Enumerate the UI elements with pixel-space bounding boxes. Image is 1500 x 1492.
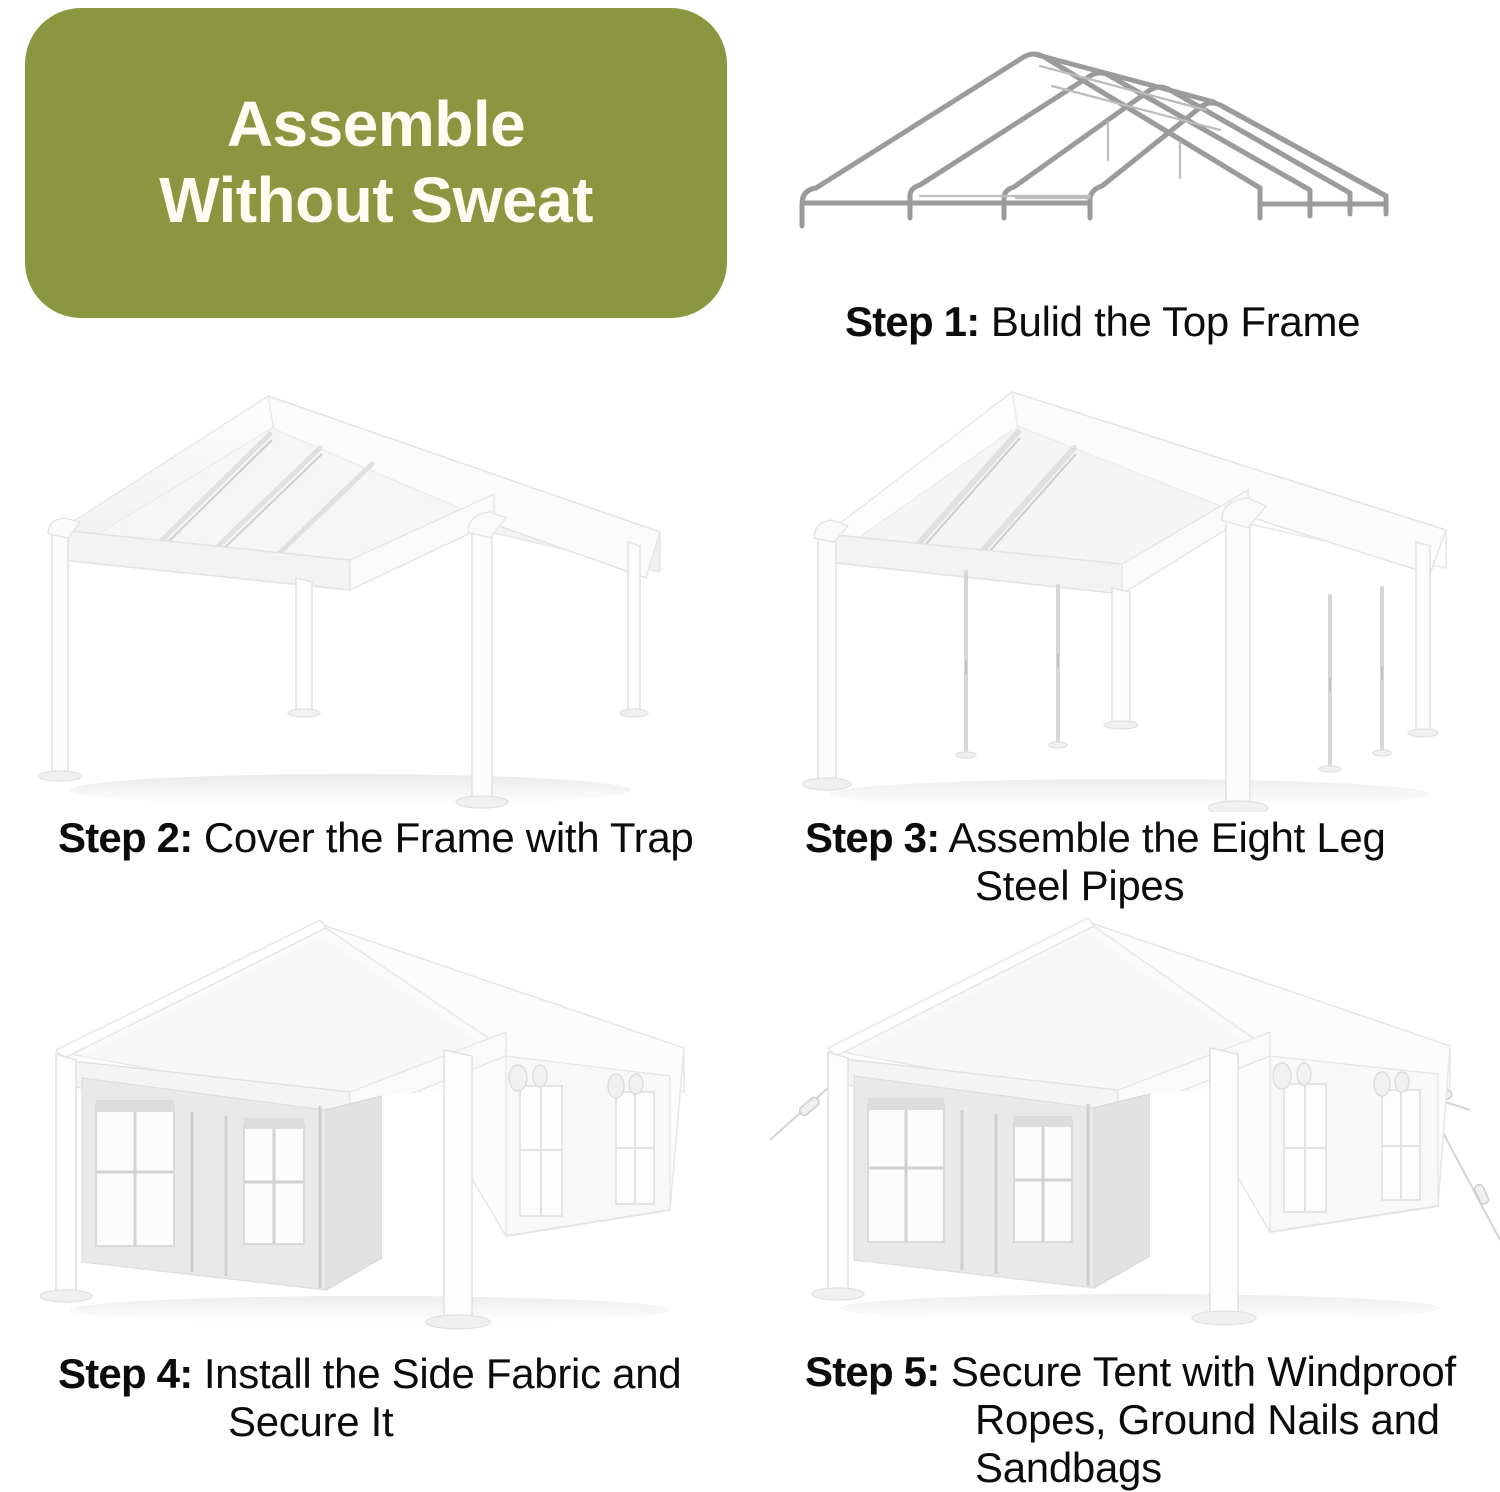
headline-badge: Assemble Without Sweat: [25, 8, 727, 318]
step-2-text: Cover the Frame with Trap: [204, 814, 694, 861]
step-panel-4: Step 4: Install the Side Fabric and Secu…: [20, 910, 740, 1430]
step-5-illustration: [770, 910, 1500, 1330]
step-3-illustration: [770, 382, 1500, 812]
step-3-caption: Step 3: Assemble the Eight Leg Steel Pip…: [770, 814, 1500, 910]
step-1-label: Step 1:: [845, 298, 979, 345]
step-panel-1: Step 1: Bulid the Top Frame: [790, 18, 1450, 378]
step-panel-3: Step 3: Assemble the Eight Leg Steel Pip…: [770, 382, 1500, 912]
step-5-label: Step 5:: [805, 1348, 939, 1395]
step-2-label: Step 2:: [58, 814, 192, 861]
step-panel-2: Step 2: Cover the Frame with Trap: [20, 382, 720, 892]
step-panel-5: Step 5: Secure Tent with Windproof Ropes…: [770, 910, 1500, 1480]
step-4-text-line-1: Install the Side Fabric and: [204, 1350, 682, 1397]
infographic-page: Assemble Without Sweat: [0, 0, 1500, 1492]
step-5-text-line-3: Sandbags: [805, 1444, 1500, 1492]
step-2-caption: Step 2: Cover the Frame with Trap: [20, 814, 720, 862]
headline-line-1: Assemble: [227, 87, 525, 163]
step-5-text-line-2: Ropes, Ground Nails and: [805, 1396, 1500, 1444]
step-1-caption: Step 1: Bulid the Top Frame: [790, 298, 1450, 346]
step-5-caption: Step 5: Secure Tent with Windproof Ropes…: [770, 1348, 1500, 1492]
headline-line-2: Without Sweat: [159, 163, 593, 239]
step-4-illustration: [20, 910, 740, 1330]
step-2-illustration: [20, 382, 720, 812]
step-4-caption: Step 4: Install the Side Fabric and Secu…: [20, 1350, 740, 1446]
step-4-label: Step 4:: [58, 1350, 192, 1397]
step-3-label: Step 3:: [805, 814, 939, 861]
step-1-illustration: [790, 18, 1450, 248]
step-3-text-line-2: Steel Pipes: [805, 862, 1500, 910]
step-5-text-line-1: Secure Tent with Windproof: [951, 1348, 1456, 1395]
step-3-text-line-1: Assemble the Eight Leg: [949, 814, 1386, 861]
step-1-text: Bulid the Top Frame: [991, 298, 1360, 345]
step-4-text-line-2: Secure It: [58, 1398, 740, 1446]
